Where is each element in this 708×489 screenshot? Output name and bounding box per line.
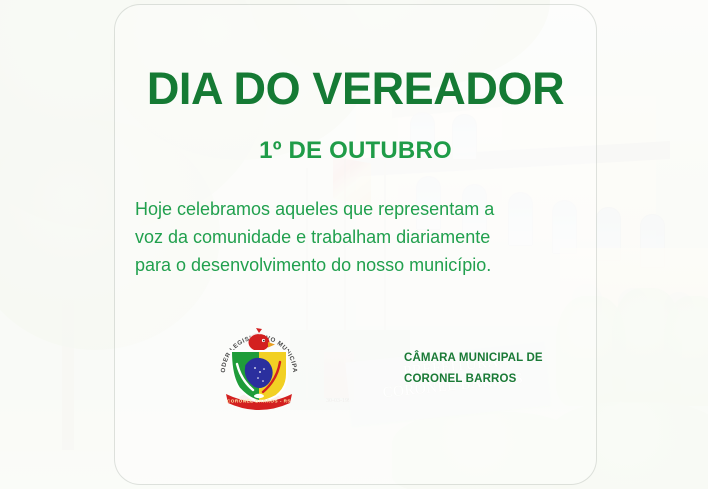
organization-name-line1: CÂMARA MUNICIPAL DE: [404, 348, 543, 369]
footer-lockup: PODER LEGISLATIVO MUNICIPAL: [218, 326, 598, 416]
coat-of-arms-icon: PODER LEGISLATIVO MUNICIPAL: [218, 326, 300, 414]
poster-canvas: 30-03-1992 PREFEITURA CORONEL BARROS DIA…: [0, 0, 708, 489]
svg-text:CORONEL BARROS - RS: CORONEL BARROS - RS: [227, 399, 291, 404]
poster-content: DIA DO VEREADOR 1º DE OUTUBRO Hoje celeb…: [114, 4, 597, 485]
body-line-1: Hoje celebramos aqueles que representam …: [135, 196, 577, 224]
organization-name-line2: CORONEL BARROS: [404, 369, 543, 390]
page-title: DIA DO VEREADOR: [114, 66, 597, 111]
body-text: Hoje celebramos aqueles que representam …: [135, 196, 577, 280]
organization-name: CÂMARA MUNICIPAL DE CORONEL BARROS: [404, 348, 543, 391]
body-line-3: para o desenvolvimento do nosso municípi…: [135, 252, 577, 280]
page-subtitle: 1º DE OUTUBRO: [114, 139, 597, 163]
body-line-2: voz da comunidade e trabalham diariament…: [135, 224, 577, 252]
